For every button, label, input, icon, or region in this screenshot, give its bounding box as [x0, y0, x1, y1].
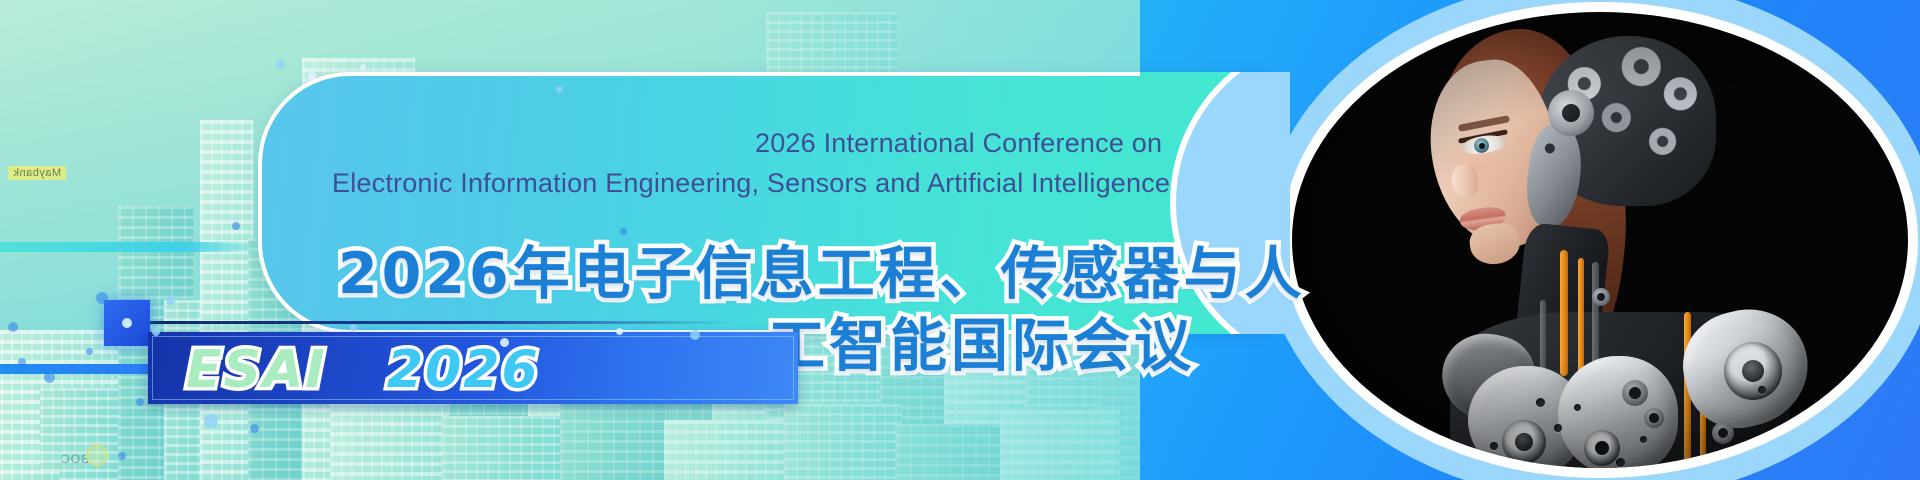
- decor-dot: [44, 372, 55, 383]
- decor-dot: [500, 338, 509, 347]
- decor-dot: [308, 72, 316, 80]
- accent-bar-left-top: [0, 242, 260, 252]
- decor-dot: [8, 322, 18, 332]
- skyline-sign-boc: BOC: [60, 452, 89, 466]
- decor-dot: [276, 60, 285, 69]
- divider-line: [148, 321, 738, 324]
- decor-dot: [620, 228, 627, 235]
- decor-dot: [166, 296, 175, 305]
- decor-dot: [96, 292, 108, 304]
- decor-dot: [18, 358, 26, 366]
- decor-dot: [136, 398, 144, 406]
- english-title-line2: Electronic Information Engineering, Sens…: [332, 168, 1170, 199]
- chinese-title-line2: 工智能国际会议: [768, 300, 1195, 382]
- decor-dot: [152, 328, 160, 336]
- skyline-sign-maybank: Maybank: [8, 166, 66, 180]
- english-title-line1: 2026 International Conference on: [755, 128, 1162, 159]
- badge-acronym: ESAI: [186, 340, 327, 400]
- decor-dot: [250, 424, 259, 433]
- decor-dot: [350, 324, 357, 331]
- decor-dot: [232, 222, 240, 230]
- chinese-title-line1: 2026年电子信息工程、传感器与人: [338, 228, 1306, 310]
- decor-dot: [204, 414, 218, 428]
- decor-dot: [86, 348, 93, 355]
- badge-year: 2026: [387, 340, 540, 400]
- robot-portrait: [1292, 12, 1908, 468]
- decor-dot: [360, 64, 366, 70]
- accent-square-marker: [104, 300, 150, 346]
- decor-dot: [118, 452, 126, 460]
- decor-dot: [690, 330, 700, 340]
- acronym-badge-text: ESAI 2026: [186, 340, 540, 400]
- decor-dot: [556, 86, 563, 93]
- skyline-logo-circle-small: [86, 444, 108, 466]
- decor-dot: [616, 328, 623, 335]
- conference-banner: Maybank BOC OCBC SHAW: [0, 0, 1920, 480]
